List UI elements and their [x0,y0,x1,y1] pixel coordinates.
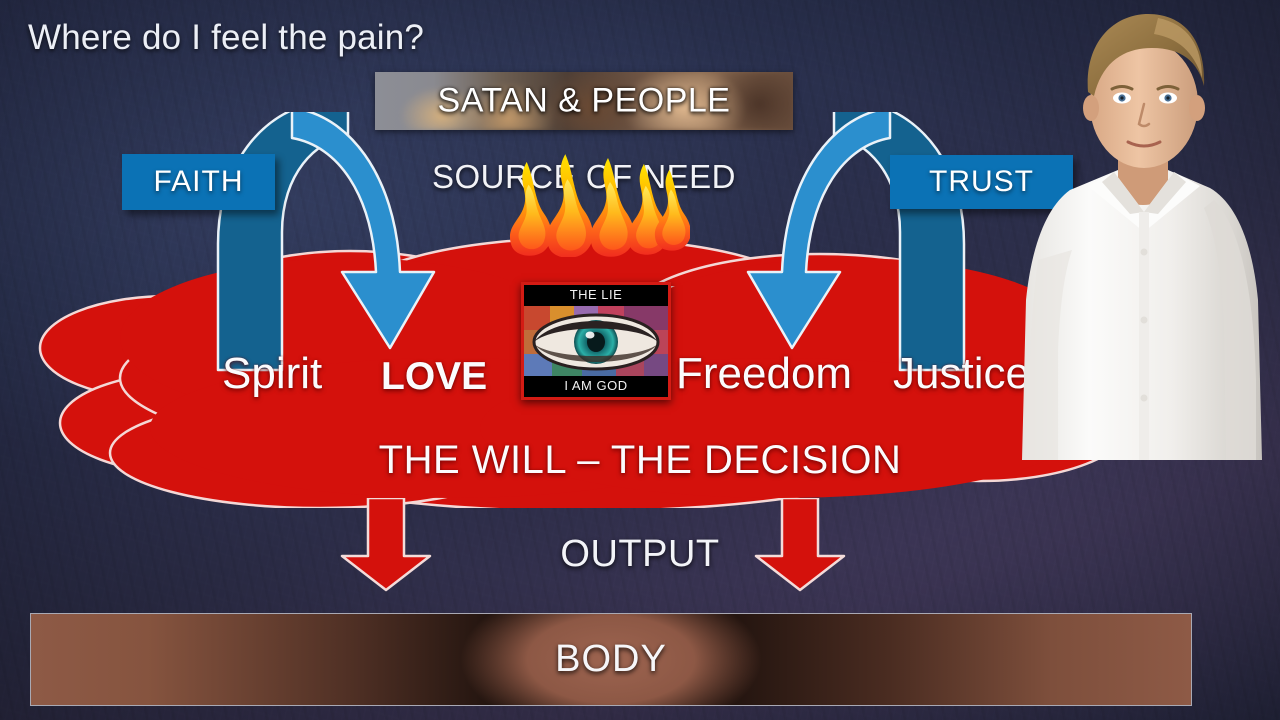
cloud-word-spirit: Spirit [222,349,322,399]
presenter-photo [1018,0,1280,460]
slide-canvas: Where do I feel the pain? SATAN & PEOPLE… [0,0,1280,720]
body-bar: BODY [30,613,1192,706]
the-lie-card: THE LIE [521,282,671,400]
the-lie-caption: THE LIE [524,285,668,306]
faith-label: FAITH [153,165,243,199]
i-am-god-caption: I AM GOD [524,376,668,397]
body-label: BODY [555,638,667,681]
page-title: Where do I feel the pain? [28,18,424,58]
cloud-word-love: LOVE [381,355,487,399]
faith-label-box: FAITH [122,154,275,210]
cloud-word-freedom: Freedom [676,349,852,399]
mosaic-eye-image [524,306,668,376]
faith-curved-arrow-icon [196,112,446,372]
output-label: OUTPUT [0,533,1280,576]
trust-curved-arrow-icon [736,112,986,372]
flames-icon [500,152,690,257]
cloud-word-justice: Justice [893,349,1030,399]
